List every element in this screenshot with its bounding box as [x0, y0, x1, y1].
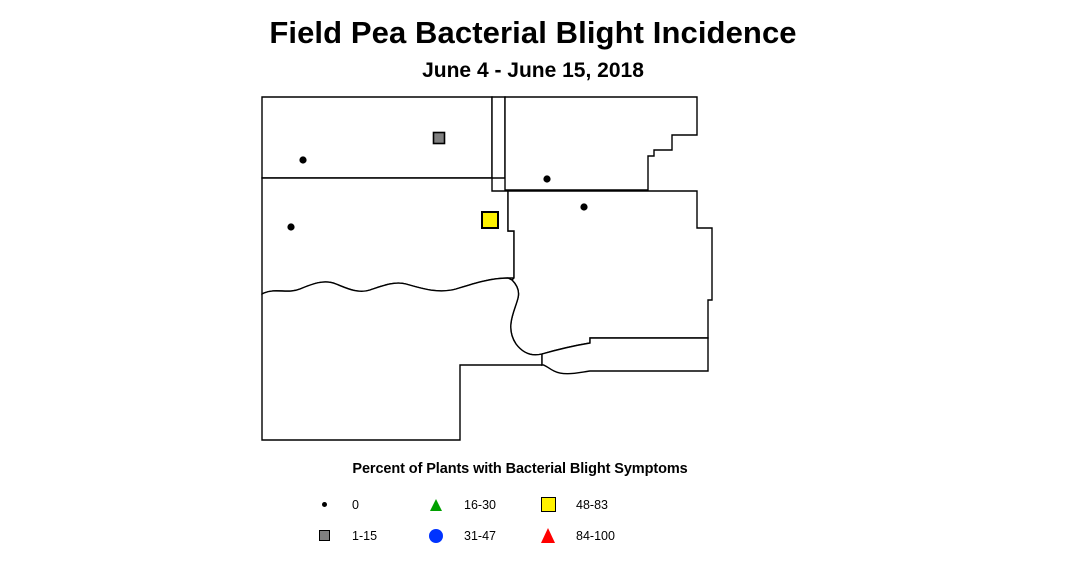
legend-grid: 0 16-30 48-83 1-15: [310, 489, 730, 551]
legend-entry-84-100[interactable]: 84-100: [534, 521, 654, 551]
legend-label-84-100: 84-100: [576, 529, 615, 543]
legend-swatch-green-triangle-icon: [422, 499, 450, 511]
legend-swatch-red-triangle-icon: [534, 528, 562, 543]
chart-page: Field Pea Bacterial Blight Incidence Jun…: [0, 0, 1066, 561]
legend-entry-31-47[interactable]: 31-47: [422, 521, 534, 551]
marker-site-ne-lower[interactable]: [581, 204, 587, 210]
county-nw-north: [262, 97, 492, 178]
map-svg: [250, 88, 750, 460]
legend-swatch-yellow-square-icon: [534, 497, 562, 512]
legend-label-0: 0: [352, 498, 359, 512]
marker-site-nw-upper[interactable]: [300, 157, 306, 163]
legend-entry-16-30[interactable]: 16-30: [422, 490, 534, 520]
legend-swatch-dot-icon: [310, 502, 338, 507]
page-title: Field Pea Bacterial Blight Incidence: [0, 16, 1066, 50]
marker-site-central[interactable]: [482, 212, 498, 228]
legend-entry-1-15[interactable]: 1-15: [310, 521, 422, 551]
legend-label-31-47: 31-47: [464, 529, 496, 543]
county-west-central: [262, 178, 514, 294]
legend-label-16-30: 16-30: [464, 498, 496, 512]
marker-site-n-central[interactable]: [434, 133, 445, 144]
legend-title: Percent of Plants with Bacterial Blight …: [310, 461, 730, 477]
county-north-central: [492, 97, 505, 178]
legend-entry-48-83[interactable]: 48-83: [534, 490, 654, 520]
legend-swatch-blue-circle-icon: [422, 529, 450, 543]
legend-entry-0[interactable]: 0: [310, 490, 422, 520]
incidence-map: [250, 88, 750, 460]
legend-label-48-83: 48-83: [576, 498, 608, 512]
title-block: Field Pea Bacterial Blight Incidence Jun…: [0, 16, 1066, 82]
county-ne: [505, 97, 697, 190]
page-subtitle: June 4 - June 15, 2018: [0, 59, 1066, 82]
county-southwest: [262, 278, 542, 440]
map-boundaries: [262, 97, 712, 440]
legend-swatch-gray-square-icon: [310, 530, 338, 541]
county-east-central: [508, 191, 712, 355]
legend-label-1-15: 1-15: [352, 529, 377, 543]
marker-site-nw-lower[interactable]: [288, 224, 294, 230]
legend: Percent of Plants with Bacterial Blight …: [310, 461, 730, 553]
marker-site-ne-upper[interactable]: [544, 176, 550, 182]
